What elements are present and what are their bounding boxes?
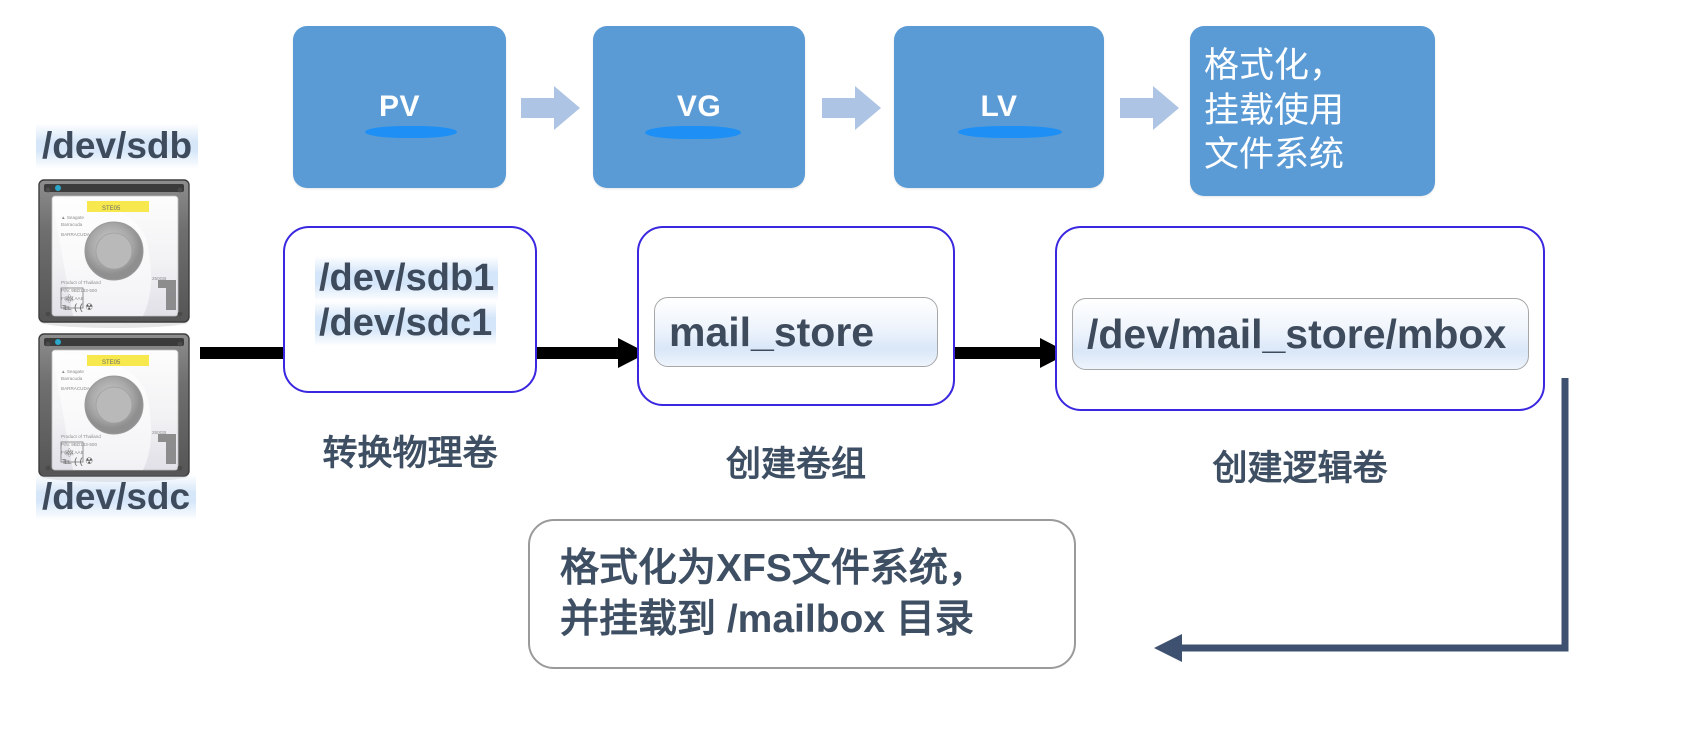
format-mount-line-3: 文件系统 <box>1204 133 1344 178</box>
svg-text:Product of Thailand: Product of Thailand <box>61 434 101 439</box>
right-block-arrow-icon-1 <box>521 84 581 132</box>
pv-device-2: /dev/sdc1 <box>315 301 496 346</box>
step-box-lv: LV <box>894 26 1104 188</box>
pill-mbox-path: /dev/mail_store/mbox <box>1072 298 1529 370</box>
format-mount-lines: 格式化， 挂载使用 文件系统 <box>1204 44 1344 178</box>
disk-label-sdb: /dev/sdb <box>36 123 198 169</box>
format-mount-line-1: 格式化， <box>1204 44 1344 89</box>
svg-text:BARRACUDA: BARRACUDA <box>61 232 91 237</box>
right-block-arrow-icon-2 <box>822 84 882 132</box>
diagram-canvas: /dev/sdb <box>0 0 1698 743</box>
disk-label-sdc: /dev/sdc <box>36 474 196 520</box>
step-label-pv: PV <box>379 90 420 123</box>
brush-underline-lv <box>958 126 1062 138</box>
svg-text:Barracuda: Barracuda <box>61 376 83 381</box>
svg-text:℡ ( ( ☢: ℡ ( ( ☢ <box>61 456 93 466</box>
step-box-vg: VG <box>593 26 805 188</box>
svg-text:STE05: STE05 <box>102 360 121 366</box>
pill-mail-store: mail_store <box>654 297 938 367</box>
callout-line-2: 并挂载到 /mailbox 目录 <box>560 594 1074 645</box>
svg-text:Barracuda: Barracuda <box>61 222 83 227</box>
stage-box-convert-physical-volume: /dev/sdb1 /dev/sdc1 <box>283 226 537 393</box>
lv-path: /dev/mail_store/mbox <box>1087 314 1506 355</box>
right-block-arrow-icon-3 <box>1120 84 1180 132</box>
hard-disk-drive-icon-sdc: STE05 ▲ Seagate Barracuda BARRACUDA Prod… <box>30 330 198 482</box>
svg-text:BARRACUDA: BARRACUDA <box>61 386 91 391</box>
brush-underline-vg <box>645 126 741 139</box>
step-label-vg: VG <box>677 90 721 123</box>
right-arrow-icon-pv-to-vg <box>530 336 648 370</box>
right-arrow-icon-vg-to-lv <box>952 336 1070 370</box>
step-label-lv: LV <box>980 90 1017 123</box>
step-box-format-mount: 格式化， 挂载使用 文件系统 <box>1190 26 1435 196</box>
svg-text:STE05: STE05 <box>102 206 121 212</box>
vg-name: mail_store <box>669 312 874 353</box>
svg-text:▲ Seagate: ▲ Seagate <box>61 369 84 374</box>
pv-device-1: /dev/sdb1 <box>315 256 498 301</box>
hard-disk-drive-icon-sdb: STE05 ▲ Seagate Barracuda BARRACUDA Prod… <box>30 176 198 328</box>
step-box-pv: PV <box>293 26 506 188</box>
caption-create-volume-group: 创建卷组 <box>637 436 955 487</box>
callout-line-1: 格式化为XFS文件系统， <box>560 543 1074 594</box>
svg-text:▲ Seagate: ▲ Seagate <box>61 215 84 220</box>
svg-text:Product of Thailand: Product of Thailand <box>61 280 101 285</box>
caption-convert-physical-volume: 转换物理卷 <box>283 425 537 476</box>
brush-underline-pv <box>365 126 457 138</box>
format-mount-line-2: 挂载使用 <box>1204 89 1344 134</box>
elbow-arrow-icon-to-callout <box>1140 370 1590 670</box>
callout-format-mount: 格式化为XFS文件系统， 并挂载到 /mailbox 目录 <box>528 519 1076 669</box>
svg-text:℡ ( ( ☢: ℡ ( ( ☢ <box>61 302 93 312</box>
